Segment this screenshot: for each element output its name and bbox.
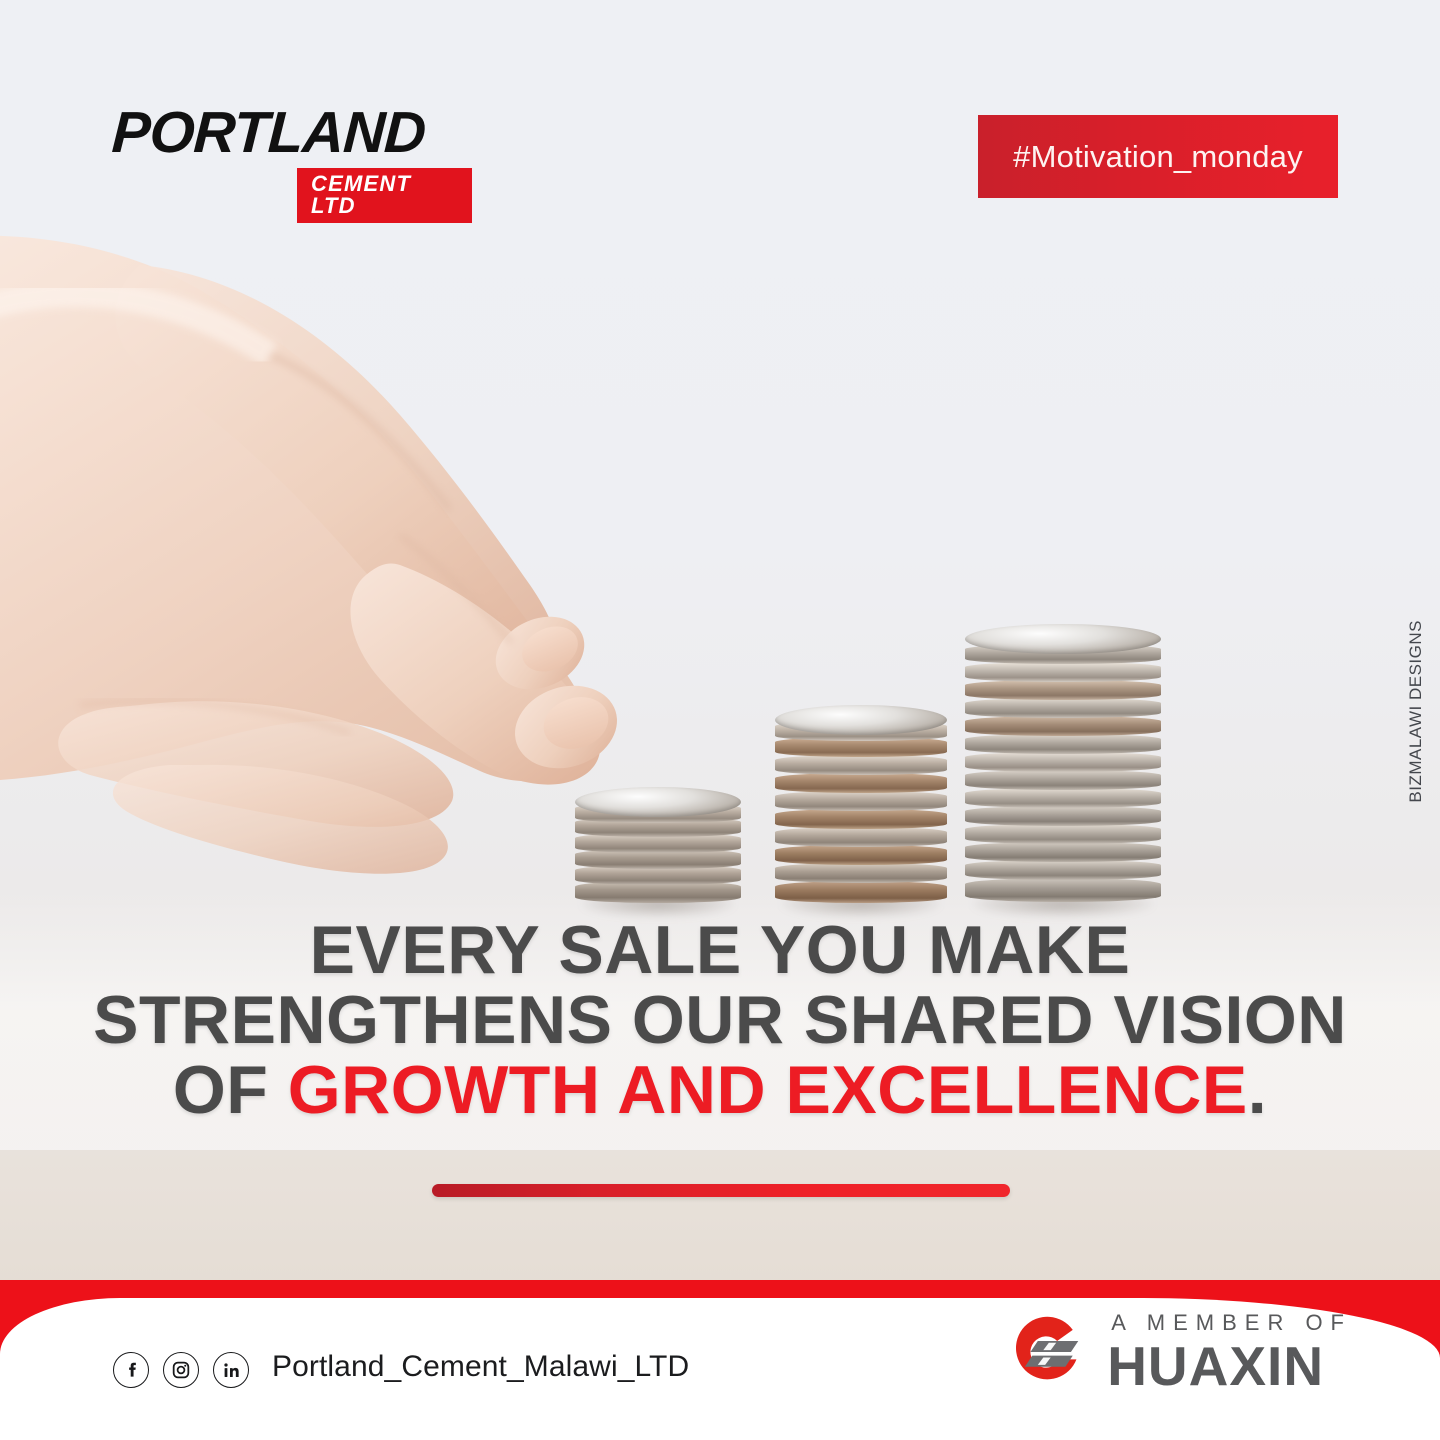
headline-line-2: STRENGTHENS OUR SHARED VISION bbox=[0, 985, 1440, 1055]
red-divider-rule bbox=[432, 1184, 1010, 1197]
coin-face bbox=[575, 787, 741, 817]
coin-edge bbox=[965, 680, 1161, 700]
coin-edge bbox=[965, 770, 1161, 790]
headline-line-3-prefix: OF bbox=[173, 1052, 288, 1128]
coin-edge bbox=[965, 878, 1161, 902]
headline-line-1: EVERY SALE YOU MAKE bbox=[0, 915, 1440, 985]
portland-cement-logo[interactable]: PORTLAND CEMENT LTD bbox=[112, 104, 472, 223]
coin-edge bbox=[965, 824, 1161, 844]
coin-edge bbox=[775, 755, 947, 775]
logo-subtext: CEMENT LTD bbox=[311, 173, 460, 217]
coin-edge bbox=[775, 845, 947, 865]
poster-canvas: PORTLAND CEMENT LTD #Motivation_monday B… bbox=[0, 0, 1440, 1440]
logo-wordmark: PORTLAND bbox=[110, 104, 473, 162]
headline: EVERY SALE YOU MAKE STRENGTHENS OUR SHAR… bbox=[0, 915, 1440, 1125]
coin-stack-large bbox=[965, 620, 1161, 905]
headline-line-3: OF GROWTH AND EXCELLENCE. bbox=[0, 1055, 1440, 1125]
social-handle[interactable]: Portland_Cement_Malawi_LTD bbox=[272, 1350, 689, 1384]
facebook-icon[interactable] bbox=[113, 1352, 149, 1388]
huaxin-partner-logo: A MEMBER OF HUAXIN bbox=[1001, 1306, 1352, 1398]
huaxin-eyebrow: A MEMBER OF bbox=[1111, 1312, 1352, 1334]
coin-edge bbox=[965, 788, 1161, 808]
coin-edge bbox=[965, 860, 1161, 880]
coin-face bbox=[965, 624, 1161, 654]
coin-edge bbox=[965, 716, 1161, 736]
coin-edge bbox=[775, 827, 947, 847]
headline-period: . bbox=[1248, 1052, 1267, 1128]
coin-stack-small bbox=[575, 785, 741, 905]
coin-edge bbox=[775, 773, 947, 793]
huaxin-mark-icon bbox=[1001, 1306, 1093, 1398]
coin-edge bbox=[775, 791, 947, 811]
footer: Portland_Cement_Malawi_LTD bbox=[0, 1280, 1440, 1440]
coin-edge bbox=[775, 809, 947, 829]
headline-line-3-accent: GROWTH AND EXCELLENCE bbox=[288, 1052, 1248, 1128]
huaxin-text-lockup: A MEMBER OF HUAXIN bbox=[1107, 1312, 1352, 1392]
coin-edge bbox=[965, 662, 1161, 682]
instagram-icon[interactable] bbox=[163, 1352, 199, 1388]
logo-subbar: CEMENT LTD bbox=[297, 168, 472, 223]
hashtag-label: #Motivation_monday bbox=[1013, 139, 1303, 175]
coin-edge bbox=[965, 806, 1161, 826]
designer-credit: BIZMALAWI DESIGNS bbox=[1406, 620, 1426, 803]
coin-stack-medium bbox=[775, 705, 947, 905]
coin-edge bbox=[965, 698, 1161, 718]
coin-edge bbox=[965, 734, 1161, 754]
hashtag-badge[interactable]: #Motivation_monday bbox=[978, 115, 1338, 198]
social-links bbox=[113, 1352, 249, 1388]
coin-edge bbox=[775, 863, 947, 883]
coin-edge bbox=[965, 842, 1161, 862]
linkedin-icon[interactable] bbox=[213, 1352, 249, 1388]
coin-edge bbox=[965, 752, 1161, 772]
hero-photo bbox=[0, 190, 1440, 1300]
huaxin-wordmark: HUAXIN bbox=[1107, 1340, 1352, 1392]
coin-edge bbox=[775, 881, 947, 903]
coin-face bbox=[775, 705, 947, 735]
